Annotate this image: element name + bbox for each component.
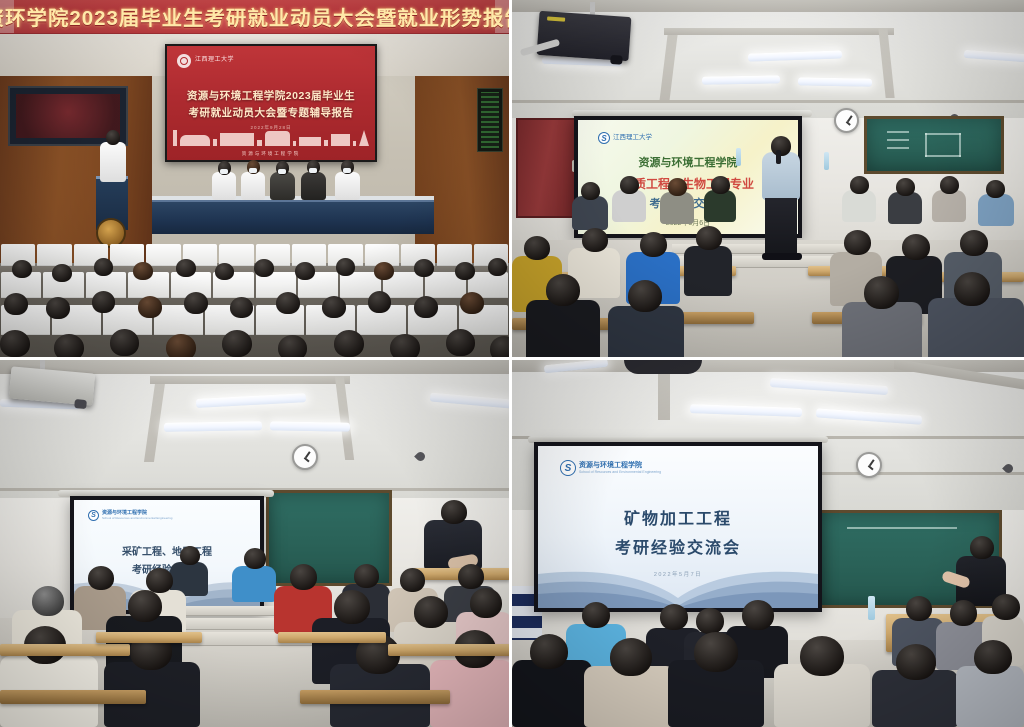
student-desk bbox=[0, 690, 146, 704]
student-torso bbox=[932, 190, 966, 222]
panel-geology-bioengineering-exchange: 江西理工大学 资源与环境工程学院 地质工程、生物工程专业 考研经验交流会 202… bbox=[512, 0, 1024, 360]
student-group bbox=[0, 360, 509, 727]
student-desk bbox=[388, 644, 512, 656]
student-torso bbox=[978, 194, 1014, 226]
student-torso bbox=[842, 302, 922, 360]
student-desk bbox=[300, 690, 450, 704]
student-torso bbox=[660, 192, 694, 224]
audience-heads-group bbox=[0, 0, 509, 357]
event-banner-text: 资环学院2023届毕业生考研就业动员大会暨就业形势报告 bbox=[0, 2, 512, 31]
student-torso bbox=[842, 190, 876, 222]
student-group bbox=[512, 360, 1024, 727]
student-torso bbox=[956, 666, 1024, 727]
student-torso bbox=[928, 298, 1024, 360]
panel-mineral-processing-exchange: 资源与环境工程学院 School of Resources and Enviro… bbox=[512, 360, 1024, 727]
event-banner: 资环学院2023届毕业生考研就业动员大会暨就业形势报告 bbox=[0, 0, 509, 34]
student-desk bbox=[96, 632, 202, 643]
student-torso bbox=[572, 196, 608, 230]
panel-auditorium-mobilization-meeting: 资环学院2023届毕业生考研就业动员大会暨就业形势报告 江西理工大学 资源与环境… bbox=[0, 0, 512, 360]
student-torso bbox=[704, 190, 736, 222]
student-desk bbox=[0, 644, 130, 656]
student-torso bbox=[888, 192, 922, 224]
student-torso bbox=[526, 300, 600, 360]
student-torso bbox=[512, 660, 592, 727]
panel-mining-geology-exchange: 资源与环境工程学院 School of Resources and Enviro… bbox=[0, 360, 512, 727]
student-group bbox=[512, 0, 1024, 357]
student-torso bbox=[684, 246, 732, 296]
student-torso bbox=[612, 190, 646, 222]
photo-collage: 资环学院2023届毕业生考研就业动员大会暨就业形势报告 江西理工大学 资源与环境… bbox=[0, 0, 1024, 727]
student-desk bbox=[278, 632, 386, 643]
student-torso bbox=[608, 306, 684, 360]
student-torso bbox=[232, 566, 276, 602]
